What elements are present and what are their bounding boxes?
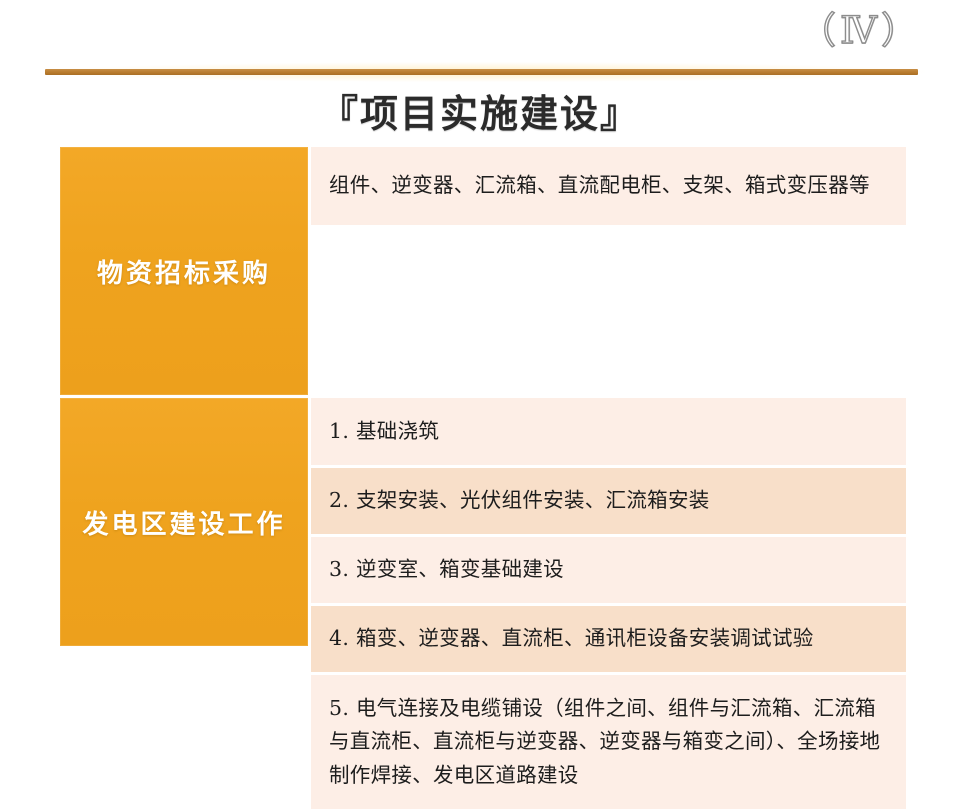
group-content-column: 组件、逆变器、汇流箱、直流配电柜、支架、箱式变压器等: [311, 147, 906, 395]
top-rule-divider: [45, 69, 918, 75]
implementation-table: 物资招标采购 组件、逆变器、汇流箱、直流配电柜、支架、箱式变压器等 发电区建设工…: [60, 147, 906, 636]
table-cell-text: 1. 基础浇筑: [329, 415, 890, 448]
group-label-procurement: 物资招标采购: [60, 147, 308, 395]
table-cell: 1. 基础浇筑: [311, 398, 906, 465]
table-cell: 5. 电气连接及电缆铺设（组件之间、组件与汇流箱、汇流箱与直流柜、直流柜与逆变器…: [311, 675, 906, 809]
table-cell-text: 2. 支架安装、光伏组件安装、汇流箱安装: [329, 484, 890, 517]
table-row: 发电区建设工作 1. 基础浇筑 2. 支架安装、光伏组件安装、汇流箱安装 3. …: [60, 398, 906, 809]
table-cell: 2. 支架安装、光伏组件安装、汇流箱安装: [311, 468, 906, 534]
table-cell-text: 组件、逆变器、汇流箱、直流配电柜、支架、箱式变压器等: [329, 169, 890, 202]
group-label-column: 发电区建设工作: [60, 398, 308, 809]
group-label-power-zone-construction: 发电区建设工作: [60, 398, 308, 646]
table-cell-text: 3. 逆变室、箱变基础建设: [329, 553, 890, 586]
table-row: 物资招标采购 组件、逆变器、汇流箱、直流配电柜、支架、箱式变压器等: [60, 147, 906, 395]
group-content-column: 1. 基础浇筑 2. 支架安装、光伏组件安装、汇流箱安装 3. 逆变室、箱变基础…: [311, 398, 906, 809]
table-cell-text: 5. 电气连接及电缆铺设（组件之间、组件与汇流箱、汇流箱与直流柜、直流柜与逆变器…: [329, 692, 890, 792]
group-label-column: 物资招标采购: [60, 147, 308, 395]
table-cell: 组件、逆变器、汇流箱、直流配电柜、支架、箱式变压器等: [311, 147, 906, 225]
table-cell: 4. 箱变、逆变器、直流柜、通讯柜设备安装调试试验: [311, 606, 906, 672]
page-title: 『项目实施建设』: [0, 90, 960, 138]
slide-number: （Ⅳ）: [799, 12, 922, 49]
table-cell: 3. 逆变室、箱变基础建设: [311, 537, 906, 603]
